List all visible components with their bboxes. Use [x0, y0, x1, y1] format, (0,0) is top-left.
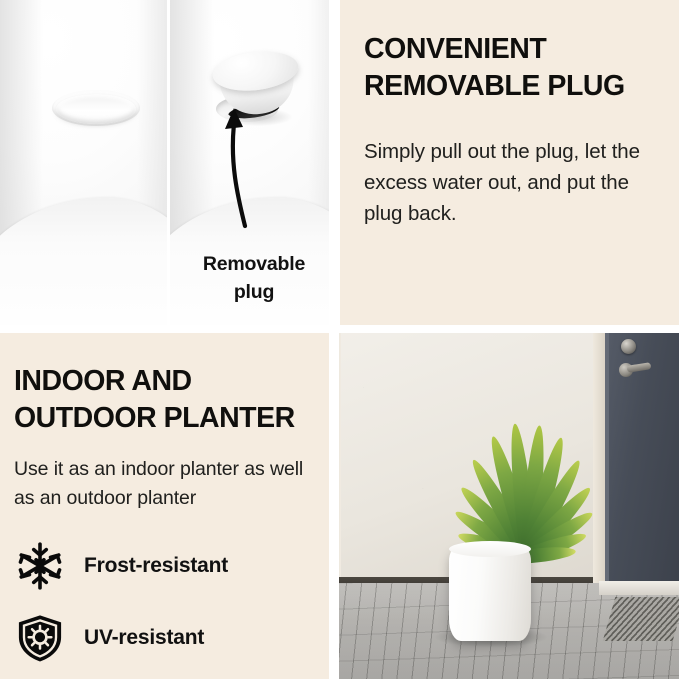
curved-arrow-pointing-to-plug: [188, 98, 298, 230]
vertical-divider-top: [336, 0, 340, 330]
planter-body-copy: Use it as an indoor planter as well as a…: [14, 455, 315, 512]
plug-photo-panel: Removable plug: [0, 0, 338, 330]
feature-row-uv: UV-resistant: [14, 602, 315, 674]
plug-headline-line1: CONVENIENT: [364, 31, 655, 68]
plug-inserted-photo: [0, 0, 167, 330]
agave-plant: [423, 409, 623, 557]
product-infographic: Removable plug CONVENIENT REMOVABLE PLUG…: [0, 0, 679, 679]
deadbolt-icon: [621, 339, 636, 354]
planter-rim: [449, 541, 531, 557]
snowflake-icon: [14, 540, 66, 592]
lifestyle-photo-panel: [331, 331, 679, 679]
feature-list: Frost-resistant: [14, 530, 315, 674]
feature-label-frost: Frost-resistant: [84, 554, 228, 578]
plug-seated: [56, 94, 136, 124]
feature-label-uv: UV-resistant: [84, 626, 204, 650]
door-threshold: [599, 581, 679, 595]
white-cylinder-planter: [449, 547, 531, 641]
feature-row-frost: Frost-resistant: [14, 530, 315, 602]
plug-body-copy: Simply pull out the plug, let the excess…: [364, 136, 655, 229]
planter-headline-line2: OUTDOOR PLANTER: [14, 400, 315, 437]
plug-headline-line2: REMOVABLE PLUG: [364, 68, 655, 105]
planter-headline-line1: INDOOR AND: [14, 363, 315, 400]
plug-text-panel: CONVENIENT REMOVABLE PLUG Simply pull ou…: [339, 0, 679, 330]
plug-removed-photo: Removable plug: [170, 0, 338, 330]
plug-caption-line2: plug: [170, 278, 338, 306]
planter-headline: INDOOR AND OUTDOOR PLANTER: [14, 363, 315, 437]
planter-text-panel: INDOOR AND OUTDOOR PLANTER Use it as an …: [0, 331, 329, 679]
doormat: [603, 597, 679, 641]
uv-shield-icon: [14, 612, 66, 664]
outdoor-scene: [331, 331, 679, 679]
plug-headline: CONVENIENT REMOVABLE PLUG: [364, 31, 655, 105]
plug-caption: Removable plug: [170, 250, 338, 307]
plug-caption-line1: Removable: [170, 250, 338, 278]
planter-body-edge: [0, 198, 167, 330]
